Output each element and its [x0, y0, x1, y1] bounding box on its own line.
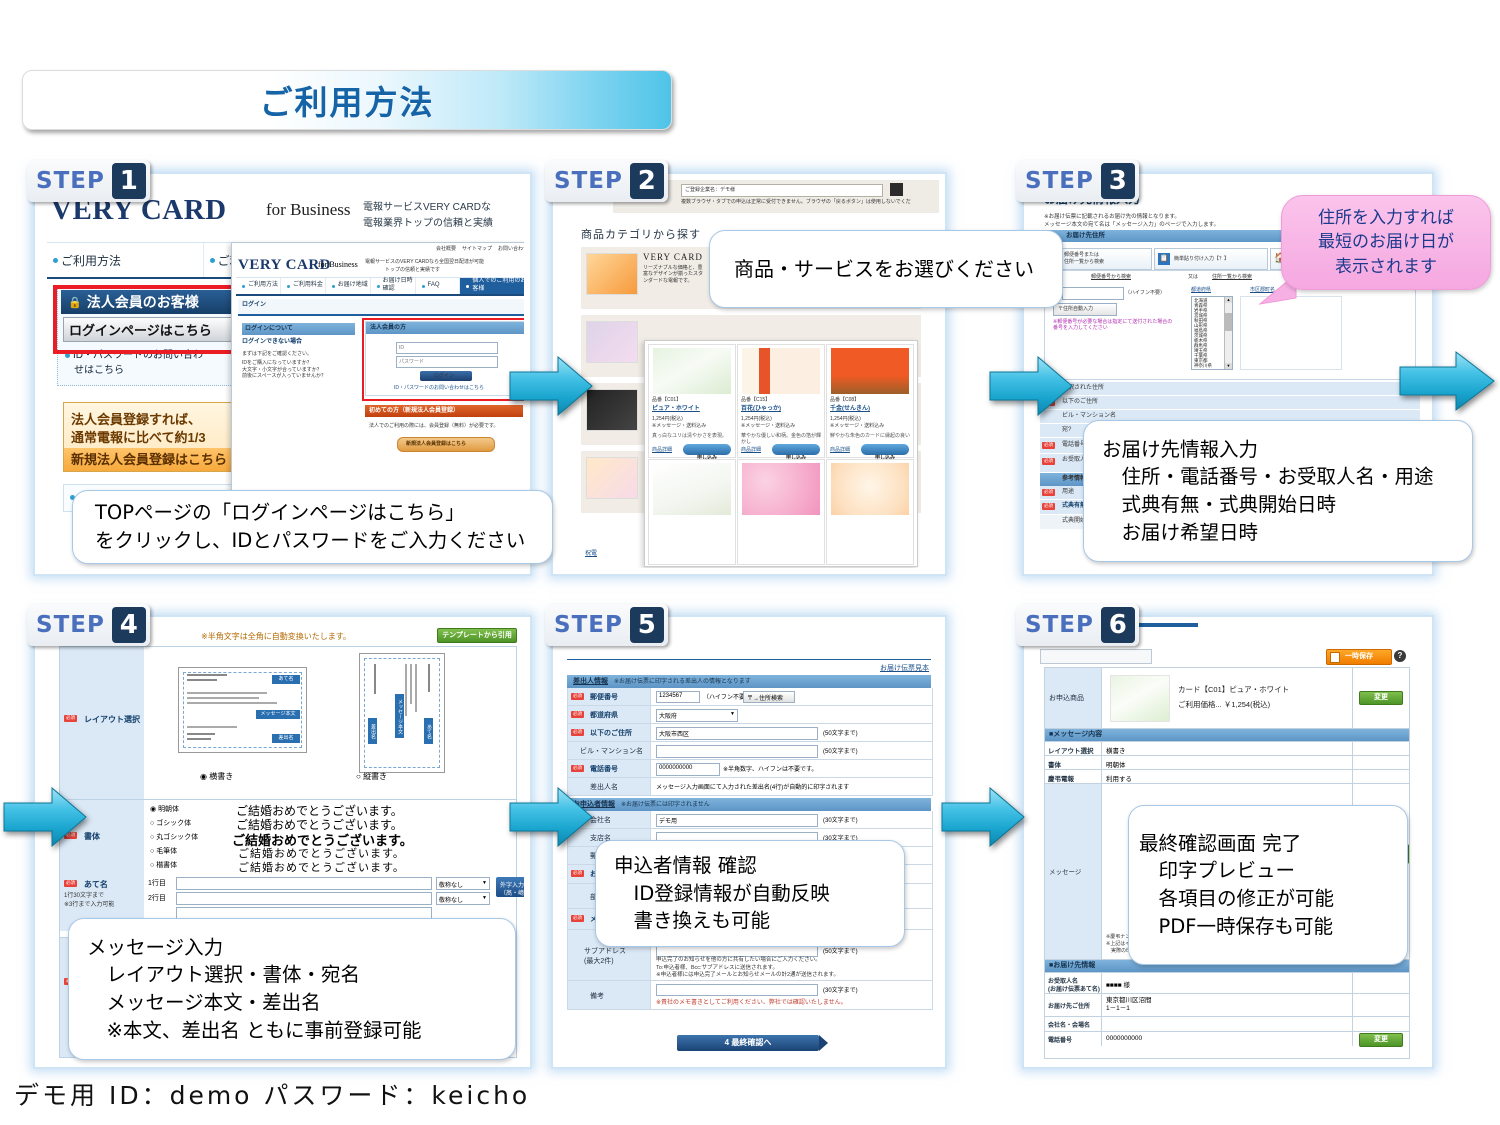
product-code: 品番【C01】: [652, 397, 681, 403]
callout-step5-line2: 書き換えも可能: [614, 907, 904, 935]
confirm-dest-row: 会社名・会場名: [1045, 1017, 1409, 1032]
callout-step5-line0: 申込者情報 確認: [614, 852, 904, 880]
addr-tab-1-line2: 住所一覧から検索: [1064, 259, 1104, 265]
change-button[interactable]: 変更: [1359, 1033, 1403, 1047]
callout-step4-line0: メッセージ入力: [87, 934, 515, 962]
chevron-up-icon[interactable]: ▲: [1225, 297, 1232, 303]
bullet-icon: [332, 285, 335, 288]
change-button-label: 変更: [1374, 1036, 1388, 1043]
final-confirm-button[interactable]: 4 最終確認へ: [677, 1035, 819, 1051]
delivery-sample-link[interactable]: お届け伝票見本: [880, 663, 929, 673]
form-row: 会社名 デモ用 (30文字まで): [568, 811, 932, 829]
font-option-label: ゴシック体: [156, 820, 191, 827]
required-badge: 必須: [571, 765, 584, 772]
product-name[interactable]: ピュア・ホワイト: [652, 406, 700, 414]
form-row-label: 電話番号: [590, 764, 618, 774]
confirm-product-name: カード【C01】ピュア・ホワイト: [1178, 684, 1289, 695]
address-value: 大阪市西区: [659, 729, 689, 738]
popup-left-body-3: 前後にスペースが入っていませんか？: [242, 373, 360, 379]
addressee-line1-input[interactable]: [176, 877, 432, 890]
font-sample-4: ご結婚おめでとうございます。: [238, 859, 405, 875]
font-option-1[interactable]: ○ ゴシック体: [150, 818, 191, 828]
preview-from-tag-v: 差出名: [368, 718, 377, 744]
step2-bottom-label-text: 祝電: [585, 551, 597, 557]
building-hint: (50文字まで): [823, 746, 858, 755]
company-input[interactable]: デモ用: [656, 814, 818, 827]
callout-step3-pink: 住所を入力すれば 最短のお届け日が 表示されます: [1281, 195, 1491, 290]
product-card[interactable]: [826, 459, 914, 565]
form-row: 必須 以下のご住所: [1040, 396, 1420, 410]
or-label: 又は: [1188, 274, 1198, 280]
memo-input[interactable]: [656, 984, 818, 996]
font-option-label: 丸ゴシック体: [156, 834, 198, 841]
confirm-row-label: 書体: [1048, 759, 1061, 769]
product-card[interactable]: [737, 459, 825, 565]
company-hint: (30文字まで): [823, 815, 858, 824]
product-code: 品番【C15】: [741, 397, 770, 403]
applicant-section-note: ※お届け伝票には印字されません: [621, 802, 710, 808]
category-title-0: VERY CARD: [643, 252, 703, 262]
memo-note: ※貴社のメモ書きとしてご利用ください、弊社では確認いたしません。: [656, 997, 847, 1006]
callout-step4: メッセージ入力 レイアウト選択・書体・宛名 メッセージ本文・差出名 ※本文、差出…: [68, 918, 516, 1060]
bullet-icon: [422, 285, 425, 288]
product-note: ※メッセージ・送料込み: [830, 423, 884, 429]
flow-arrow-5-to-6: [940, 786, 1026, 848]
login-popup-window: 会社概要 サイトマップ お問い合わせ VERY CARD for Busines…: [231, 242, 524, 509]
sub-address-note-0: 申込完了のお知らせを他の方に共有したい場合にご入力ください。: [656, 957, 839, 965]
postal-hint: （ハイフン不要）: [1125, 290, 1165, 296]
step6-breadcrumb-box: [1040, 649, 1152, 664]
product-detail-link[interactable]: 商品詳細: [830, 447, 850, 453]
postal-search-title: 郵便番号から検索: [1091, 274, 1131, 280]
bullet-icon: [210, 258, 215, 263]
required-badge: 必須: [571, 711, 584, 718]
popup-header-link-1[interactable]: サイトマップ: [462, 246, 492, 252]
addr-tab-1-line1: 郵便番号または: [1064, 252, 1099, 258]
honorific-select-1[interactable]: 敬称なし ▼: [436, 877, 490, 890]
form-row: 必須 電話番号 0000000000 ※半角数字、ハイフンは不要です。: [568, 760, 932, 778]
prefecture-value: 大阪府: [659, 711, 677, 720]
step6-top-tab: [1138, 623, 1198, 627]
step-badge-label: STEP: [554, 168, 623, 194]
font-option-3[interactable]: ○ 毛筆体: [150, 846, 177, 856]
required-badge: 必須: [1042, 442, 1055, 449]
bullet-icon: [287, 285, 290, 288]
confirm-row-label: レイアウト選択: [1048, 745, 1094, 755]
dest-row-value: 東京都川区沼間 1－1－1: [1106, 997, 1152, 1014]
callout-step3-line0: お届け先情報入力: [1102, 436, 1472, 464]
tagline-line2: 電報業界トップの信頼と実績: [363, 214, 493, 229]
step-badge-label: STEP: [554, 612, 623, 638]
product-price: 1,254円(税込): [652, 416, 683, 422]
required-badge: 必須: [571, 915, 584, 922]
required-badge: 必須: [1042, 503, 1055, 510]
bullet-icon: [466, 285, 469, 288]
step-badge-6: STEP 6: [1016, 604, 1139, 646]
memo-label: 備考: [590, 991, 604, 1001]
promo-line2: 通常電報に比べて約1/3: [71, 427, 206, 446]
layout-radio-horizontal-label: 横書き: [209, 772, 233, 781]
product-desc: 鮮やかな朱色のカードに縁起の良い: [830, 433, 910, 439]
popup-nav-item-3[interactable]: お届け日時確認: [371, 278, 416, 294]
confirm-row-value: 横書き: [1106, 745, 1126, 755]
step3-address-section-label: お届け先住所: [1066, 232, 1105, 239]
preview-from-tag: 差出名: [272, 734, 300, 743]
chevron-down-icon: ▼: [482, 895, 487, 901]
sub-address-note-2: ※申込者様には申込完了メールとお知らせメールの計2通が送信されます。: [656, 972, 839, 980]
address-hint: (50文字まで): [823, 728, 858, 737]
form-row-label: 差出人名: [590, 782, 618, 792]
step-badge-label: STEP: [1025, 612, 1094, 638]
preview-to-tag-v: あて名: [424, 718, 433, 744]
popup-nav-item-4[interactable]: FAQ: [416, 278, 461, 294]
company-label: ご登録企業名：デモ様: [685, 187, 735, 193]
popup-new-member-body: 法人でのご利用の際には、会員登録（無料）が必要です。: [369, 423, 524, 429]
layout-radio-vertical[interactable]: ○ 縦書き: [356, 771, 387, 782]
flow-arrow-1-to-2: [508, 355, 594, 417]
popup-left-body: まずは下記をご確認ください。 IDをご購入になっていますか？ 大文字・小文字が合…: [242, 351, 360, 379]
postal-auto-button[interactable]: 〒住所自動入力: [1053, 303, 1117, 316]
required-badge: 必須: [571, 693, 584, 700]
dest-row-label-1: 会社名・会場名: [1048, 1020, 1090, 1029]
inquiry-line2: せはこちら: [65, 365, 124, 376]
promo-cta[interactable]: 新規法人会員登録はこちら: [64, 448, 250, 471]
close-icon[interactable]: [890, 183, 903, 196]
chevron-down-icon[interactable]: ▼: [1225, 363, 1232, 369]
brand-sub: for Business: [266, 200, 351, 220]
callout-step3-pink-line0: 住所を入力すれば: [1290, 206, 1482, 230]
prefecture-scrollbar[interactable]: ▲ ▼: [1224, 297, 1232, 369]
product-image: [653, 348, 731, 394]
confirm-dest-section-label: ■お届け先情報: [1049, 962, 1095, 969]
line1-label: 1行目: [148, 878, 166, 888]
confirm-message-section-label: ■メッセージ内容: [1049, 731, 1102, 738]
promo-line1: 法人会員登録すれば、: [71, 409, 201, 428]
step-badge-2: STEP 2: [545, 160, 668, 202]
layout-row-label: 必須 レイアウト選択: [60, 647, 145, 799]
phone-hint: ※半角数字、ハイフンは不要です。: [723, 764, 817, 773]
callout-step4-line3: ※本文、差出名 ともに事前登録可能: [87, 1017, 515, 1045]
product-apply-button[interactable]: 申し込み: [683, 444, 731, 455]
honorific-select-2[interactable]: 敬称なし ▼: [436, 892, 490, 905]
popup-left-question-label: ログインできない場合: [242, 339, 302, 345]
memo-hint: (30文字まで): [823, 985, 858, 994]
postal-search-button[interactable]: 〒→住所検索: [743, 691, 795, 703]
form-row: 差出人名 メッセージ入力画面にて入力された差出名(4行)が自動的に印字されます: [568, 778, 932, 795]
nav-item-label: ご利用方法: [61, 252, 121, 269]
callout-step6-line2: 各項目の修正が可能: [1139, 885, 1407, 913]
font-option-2[interactable]: ○ 丸ゴシック体: [150, 832, 198, 842]
confirm-message-section: ■メッセージ内容: [1045, 729, 1409, 741]
callout-step1: TOPページの「ログインページはこちら」 をクリックし、IDとパスワードをご入力…: [72, 490, 553, 564]
step-badge-label: STEP: [36, 168, 105, 194]
required-badge: 必須: [64, 715, 77, 722]
page-title: ご利用方法: [260, 76, 435, 124]
gaiji-line2: （髙・﨑・吉など）: [500, 888, 524, 897]
address-input[interactable]: 大阪市西区: [656, 727, 818, 740]
form-row-memo: 備考 (30文字まで) ※貴社のメモ書きとしてご利用ください、弊社では確認いたし…: [568, 981, 932, 1009]
font-option-4[interactable]: ○ 楷書体: [150, 860, 177, 870]
sender-section-title: 差出人情報: [573, 678, 608, 685]
product-name[interactable]: 千金(せんきん): [830, 406, 870, 414]
prefecture-label: 都道府県: [1191, 287, 1211, 293]
confirm-row-value: 明朝体: [1106, 759, 1126, 769]
popup-nav-label: ご利用方法: [248, 282, 278, 290]
form-row-label: 以下のご住所: [590, 728, 632, 738]
popup-desc-line2: トップの信頼と実績です: [385, 267, 440, 273]
step-badge-number: 6: [1101, 607, 1135, 643]
callout-step1-line0: TOPページの「ログインページはこちら」: [95, 499, 552, 527]
callout-step4-line2: メッセージ本文・差出名: [87, 989, 515, 1017]
page-title-banner: ご利用方法: [22, 70, 672, 130]
confirm-row-value: 利用する: [1106, 773, 1132, 783]
product-image: [831, 348, 909, 394]
change-button-label: 変更: [1374, 694, 1388, 701]
step4-top-note: ※半角文字は全角に自動変換いたします。: [201, 631, 351, 642]
scroll-thumb[interactable]: [1225, 313, 1232, 331]
popup-page-title-label: ログイン: [242, 302, 266, 310]
popup-left-header: ログインについて: [242, 323, 355, 335]
product-card[interactable]: 品番【C01】 ピュア・ホワイト 1,254円(税込) ※メッセージ・送料込み …: [648, 344, 736, 458]
addr-tab-2-label: 簡単貼り付け入力【？】: [1174, 256, 1229, 262]
form-row: 選択された住所: [1040, 382, 1420, 396]
form-row-label: ビル・マンション名: [580, 746, 643, 756]
save-icon: [1330, 652, 1340, 663]
product-apply-button[interactable]: 申し込み: [772, 444, 820, 455]
product-price: 1,254円(税込): [741, 416, 772, 422]
callout-step3-line2: 式典有無・式典開始日時: [1102, 491, 1472, 519]
postal-search-button-label: 〒→住所検索: [747, 693, 783, 702]
chevron-down-icon: ▼: [730, 711, 735, 717]
popup-nav-item-2[interactable]: お届け地域: [326, 278, 371, 294]
product-card[interactable]: 品番【C15】 百花(ひゃっか) 1,254円(税込) ※メッセージ・送料込み …: [737, 344, 825, 458]
popup-nav-label: 個人でのご利用のお客様: [472, 278, 524, 294]
sub-address-hint-2: (50文字まで): [823, 946, 858, 955]
step5-divider: [567, 659, 931, 660]
step-badge-1: STEP 1: [27, 160, 150, 202]
confirm-product-price: ご利用価格... ￥1,254(税込): [1178, 699, 1270, 710]
form-row: ビル・マンション名 (50文字まで): [568, 742, 932, 760]
popup-nav-label: お届け地域: [338, 282, 368, 290]
callout-step3: お届け先情報入力 住所・電話番号・お受取人名・用途 式典有無・式典開始日時 お届…: [1083, 420, 1473, 562]
product-code: 品番【C08】: [830, 397, 859, 403]
applicant-section-header: お申込者情報 ※お届け伝票には印字されません: [567, 798, 931, 811]
form-row-label: 都道府県: [590, 710, 618, 720]
sender-section-header: 差出人情報 ※お届け伝票に印字される差出人の情報となります: [567, 675, 931, 688]
step-badge-label: STEP: [36, 612, 105, 638]
popup-nav-label: お届け日時確認: [383, 278, 415, 294]
product-note: ※メッセージ・送料込み: [741, 423, 795, 429]
confirm-dest-row: 電話番号 0000000000 変更: [1045, 1032, 1409, 1046]
clipboard-icon: 📋: [1158, 253, 1170, 265]
popup-header-link-2[interactable]: お問い合わせ: [498, 246, 524, 252]
addressee-line2-input[interactable]: [176, 892, 432, 905]
confirm-dest-row: お受取人名 (お届け伝票あて名) ■■■■ 様: [1045, 972, 1409, 994]
product-desc: 真っ白なユリは清やかさを表現。: [652, 433, 732, 439]
popup-highlight-box: [362, 318, 524, 401]
dest-row-label-1: 電話番号: [1048, 1035, 1072, 1044]
addressee-sub1: 1行30文字まで: [64, 890, 104, 899]
popup-new-member-header: 初めての方（新規法人会員登録）: [365, 405, 523, 417]
help-icon[interactable]: ?: [1394, 650, 1406, 662]
chevron-right-icon: [819, 1035, 828, 1051]
addressee-label-text: あて名: [84, 879, 108, 890]
step-badge-number: 2: [630, 163, 664, 199]
step-badge-number: 1: [112, 163, 146, 199]
product-image: [653, 463, 731, 515]
product-detail-link[interactable]: 商品詳細: [741, 447, 761, 453]
popup-nav-label: ご利用料金: [293, 282, 323, 290]
template-button-label: テンプレートから引用: [442, 632, 512, 639]
callout-step1-line1: をクリックし、IDとパスワードをご入力ください: [95, 527, 552, 555]
callout-step3-pink-line2: 表示されます: [1290, 255, 1482, 279]
addressee-sub2: ※3行まで入力可能: [64, 899, 114, 908]
form-row: 必須 郵便番号 1234567 （ハイフン不要） 〒→住所検索: [568, 688, 932, 706]
popup-nav-item-highlight[interactable]: 個人でのご利用のお客様: [460, 278, 524, 294]
product-image: [831, 463, 909, 515]
change-button[interactable]: 変更: [1359, 691, 1403, 705]
confirm-row: 慶弔電報 利用する: [1045, 770, 1409, 784]
font-option-0[interactable]: ◉ 明朝体: [150, 804, 179, 814]
preview-body-tag-v: メッセージ本文: [395, 694, 404, 738]
product-detail-link[interactable]: 商品詳細: [652, 447, 672, 453]
sender-form: 必須 郵便番号 1234567 （ハイフン不要） 〒→住所検索 必須 都道府県: [567, 688, 933, 796]
popup-header-link-0[interactable]: 会社概要: [436, 246, 456, 252]
confirm-row: レイアウト選択 横書き: [1045, 741, 1409, 756]
popup-new-member-button[interactable]: 新規法人会員登録はこちら: [397, 437, 495, 452]
category-section-title: 商品カテゴリから探す: [581, 226, 701, 242]
bullet-icon: [242, 285, 245, 288]
product-price: 1,254円(税込): [830, 416, 861, 422]
prefecture-select[interactable]: 大阪府 ▼: [656, 709, 738, 722]
dest-row-label-1: お届け先ご住所: [1048, 1001, 1090, 1010]
required-badge: 必須: [571, 870, 584, 877]
product-name[interactable]: 百花(ひゃっか): [741, 406, 781, 414]
callout-step6-line3: PDF一時保存も可能: [1139, 913, 1407, 941]
step-badge-3: STEP 3: [1016, 160, 1139, 202]
product-desc-line0: 鮮やかな朱色のカードに縁起の良い: [830, 433, 910, 439]
nav-item-0[interactable]: ご利用方法: [47, 243, 204, 277]
layout-row-content: あて名 メッセージ本文 差出名 差出名 メッセージ本文: [144, 647, 516, 800]
callout-step3-line3: お届け希望日時: [1102, 519, 1472, 547]
tagline-line1: 電報サービスVERY CARDな: [363, 198, 491, 213]
prefecture-listbox[interactable]: 北海道 青森県 岩手県 宮城県 秋田県 山形県 福島県 茨城県 栃木県 群馬県 …: [1191, 296, 1233, 370]
popup-navbar[interactable]: ご利用方法 ご利用料金 お届け地域 お届け日時確認 FAQ 個人でのご利用のお客…: [236, 277, 524, 296]
font-row-content: ◉ 明朝体 ○ ゴシック体 ○ 丸ゴシック体 ○ 毛筆体 ○ 楷書体 ご結婚おめ…: [144, 799, 516, 877]
product-image: [742, 348, 820, 394]
callout-step6-line0: 最終確認画面 完了: [1139, 830, 1407, 858]
dest-row-label-2: (お届け伝票あて名): [1048, 984, 1100, 993]
postal-code-input[interactable]: [1062, 287, 1124, 300]
flow-arrow-2-to-3: [988, 355, 1074, 417]
step-badge-number: 3: [1101, 163, 1135, 199]
temp-save-button[interactable]: 一時保存: [1326, 649, 1392, 665]
building-input[interactable]: [656, 745, 818, 758]
layout-row-label-text: レイアウト選択: [84, 714, 140, 725]
promo-box[interactable]: 法人会員登録すれば、 通常電報に比べて約1/3 新規法人会員登録はこちら: [63, 402, 251, 472]
form-row-label: 用途: [1062, 489, 1074, 497]
form-row: 必須 以下のご住所 大阪市西区 (50文字まで): [568, 724, 932, 742]
postal-auto-button-label: 〒住所自動入力: [1058, 306, 1093, 312]
phone-value: 0000000000: [659, 765, 692, 771]
confirm-message-label: メッセージ: [1049, 866, 1081, 876]
popup-nav-item-1[interactable]: ご利用料金: [281, 278, 326, 294]
confirm-row: 書体 明朝体: [1045, 756, 1409, 770]
callout-step6-line1: 印字プレビュー: [1139, 857, 1407, 885]
product-grid-window: 品番【C01】 ピュア・ホワイト 1,254円(税込) ※メッセージ・送料込み …: [644, 340, 918, 567]
addr-tab-2[interactable]: 📋 簡単貼り付け入力【？】: [1154, 248, 1268, 270]
dest-row-value: 0000000000: [1106, 1035, 1142, 1042]
popup-new-member-button-label: 新規法人会員登録はこちら: [406, 441, 466, 447]
chevron-down-icon: ▼: [482, 880, 487, 886]
template-button[interactable]: テンプレートから引用: [437, 628, 517, 643]
popup-left-question: ログインできない場合: [242, 339, 357, 347]
callout-step3-line1: 住所・電話番号・お受取人名・用途: [1102, 463, 1472, 491]
layout-radio-horizontal[interactable]: ◉ 横書き: [200, 771, 233, 782]
step-badge-5: STEP 5: [545, 604, 668, 646]
callout-step3-pink-line1: 最短のお届け日が: [1290, 230, 1482, 254]
sub-address-label-2: (最大2件): [584, 956, 614, 966]
product-apply-button[interactable]: 申し込み: [861, 444, 909, 455]
layout-preview-horizontal[interactable]: あて名 メッセージ本文 差出名: [178, 667, 307, 753]
step2-bottom-label[interactable]: 祝電: [585, 551, 597, 559]
layout-preview-vertical[interactable]: 差出名 メッセージ本文 あて名: [359, 653, 445, 773]
postal-code-input[interactable]: 1234567: [656, 691, 700, 703]
company-value: デモ用: [659, 816, 677, 825]
callout-step5-line1: ID登録情報が自動反映: [614, 880, 904, 908]
callout-step2: 商品・サービスをお選びください: [709, 230, 1063, 308]
addr-list-title: 住所一覧から検索: [1212, 274, 1252, 280]
callout-step6: 最終確認画面 完了 印字プレビュー 各項目の修正が可能 PDF一時保存も可能: [1128, 805, 1408, 965]
step-badge-number: 4: [112, 607, 146, 643]
popup-page-title: ログイン: [238, 299, 524, 316]
popup-left-body-0: まずは下記をご確認ください。: [242, 351, 360, 357]
sub-address-label-1: サブアドレス: [584, 946, 626, 956]
popup-nav-item-0[interactable]: ご利用方法: [236, 278, 281, 294]
popup-brand-sub: for Business: [318, 260, 358, 269]
sender-note: メッセージ入力画面にて入力された差出名(4行)が自動的に印字されます: [656, 782, 849, 791]
demo-credentials-note: デモ用 ID：demo パスワード：keicho: [14, 1076, 530, 1112]
temp-save-button-label: 一時保存: [1345, 653, 1373, 660]
gaiji-button[interactable]: 外字入力について （髙・﨑・吉など）: [496, 877, 524, 897]
product-note: ※メッセージ・送料込み: [652, 423, 706, 429]
honorific-value: 敬称なし: [439, 880, 463, 889]
font-option-label: 明朝体: [158, 806, 179, 813]
required-badge: 必須: [1042, 489, 1055, 496]
required-badge: 必須: [1042, 458, 1055, 465]
product-card[interactable]: 品番【C08】 千金(せんきん) 1,254円(税込) ※メッセージ・送料込み …: [826, 344, 914, 458]
flow-arrow-4-to-5: [508, 786, 594, 848]
popup-nav-label: FAQ: [428, 282, 440, 290]
category-thumb-3: [586, 457, 638, 499]
postal-code-value: 1234567: [659, 693, 682, 699]
step2-warning: 複数ブラウザ・タブでの申込は正常に受付できません。ブラウザの「戻るボタン」は使用…: [681, 199, 939, 205]
layout-radio-vertical-label: 縦書き: [363, 772, 387, 781]
confirm-product-image: [1110, 675, 1170, 722]
required-badge: 必須: [64, 880, 77, 887]
dest-row-value: ■■■■ 様: [1106, 979, 1130, 989]
phone-input[interactable]: 0000000000: [656, 763, 720, 776]
bullet-icon: [377, 285, 380, 288]
callout-step2-line0: 商品・サービスをお選びください: [734, 255, 1062, 283]
font-option-label: 楷書体: [156, 862, 177, 869]
popup-new-member-label: 初めての方（新規法人会員登録）: [369, 408, 459, 414]
preview-to-tag: あて名: [272, 675, 300, 684]
form-row-label: 宛?: [1062, 427, 1071, 435]
product-card[interactable]: [648, 459, 736, 565]
callout-step5: 申込者情報 確認 ID登録情報が自動反映 書き換えも可能: [595, 840, 905, 947]
font-option-label: 毛筆体: [156, 848, 177, 855]
